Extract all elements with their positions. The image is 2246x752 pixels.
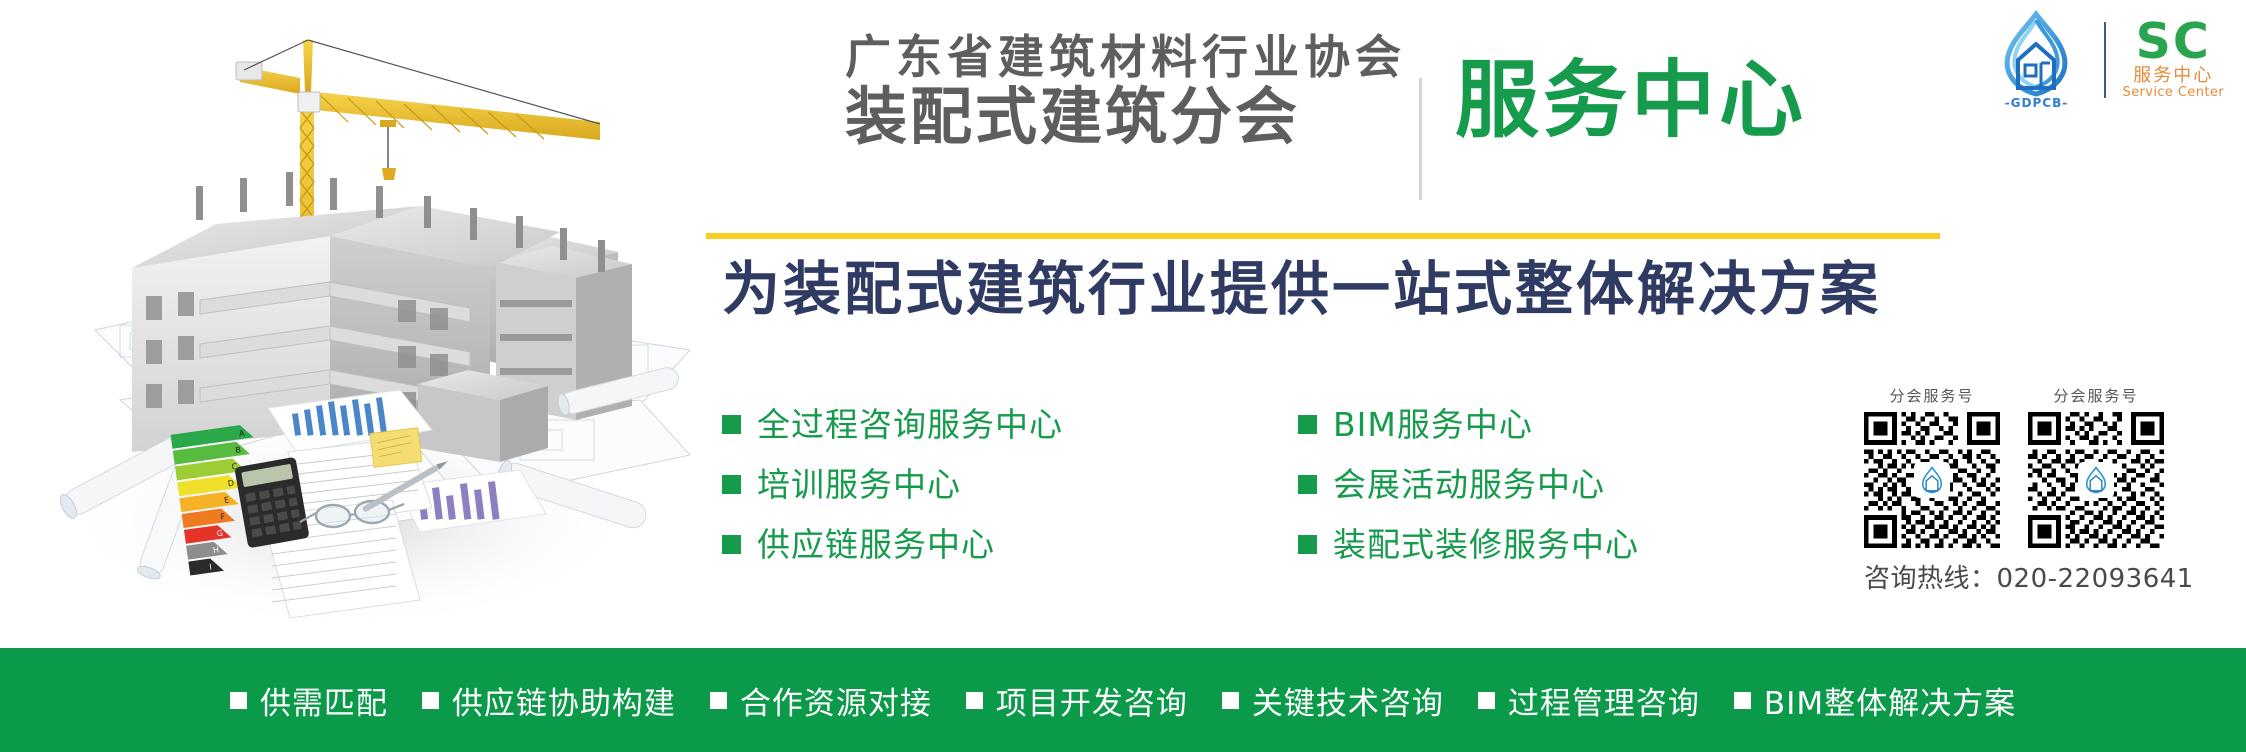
- square-bullet-icon: [1478, 692, 1495, 709]
- square-bullet-icon: [1298, 475, 1317, 494]
- qr-contact-block: 分会服务号: [1864, 385, 2216, 595]
- square-bullet-icon: [1734, 692, 1751, 709]
- sc-chinese-label: 服务中心: [2133, 67, 2213, 85]
- bar-item-label: 过程管理咨询: [1508, 678, 1700, 723]
- list-item[interactable]: 全过程咨询服务中心: [722, 408, 1063, 441]
- hero-illustration: ABC DEF GH I: [0, 0, 700, 648]
- bar-item[interactable]: 供应链协助构建: [422, 678, 676, 723]
- square-bullet-icon: [722, 475, 741, 494]
- service-center-title: 服务中心: [1455, 56, 1807, 144]
- service-label: 培训服务中心: [757, 468, 961, 501]
- promo-banner: ABC DEF GH I: [0, 0, 2246, 752]
- bar-item-label: 供应链协助构建: [452, 678, 676, 723]
- yellow-rule: [706, 233, 1940, 239]
- list-item[interactable]: 培训服务中心: [722, 468, 1063, 501]
- bar-item[interactable]: 供需匹配: [230, 678, 388, 723]
- qr-embedded-logo-icon: [1914, 462, 1950, 498]
- svg-text:H: H: [212, 545, 219, 555]
- square-bullet-icon: [1222, 692, 1239, 709]
- gdpcb-flame-house-icon: -GDPCB-: [1984, 8, 2088, 112]
- hotline-text: 咨询热线：020-22093641: [1864, 558, 2216, 595]
- svg-text:G: G: [216, 529, 223, 539]
- sc-logo: SC 服务中心 Service Center: [2122, 19, 2224, 101]
- service-label: 供应链服务中心: [757, 528, 995, 561]
- service-label: BIM服务中心: [1333, 408, 1533, 441]
- square-bullet-icon: [1298, 535, 1317, 554]
- headline-vertical-divider: [1419, 78, 1422, 200]
- square-bullet-icon: [230, 692, 247, 709]
- bar-item[interactable]: 项目开发咨询: [966, 678, 1188, 723]
- bar-item-label: 项目开发咨询: [996, 678, 1188, 723]
- list-item[interactable]: 供应链服务中心: [722, 528, 1063, 561]
- qr-cell: 分会服务号: [1864, 385, 2000, 548]
- service-list-right: BIM服务中心 会展活动服务中心 装配式装修服务中心: [1298, 408, 1639, 561]
- list-item[interactable]: 装配式装修服务中心: [1298, 528, 1639, 561]
- bottom-feature-bar: 供需匹配 供应链协助构建 合作资源对接 项目开发咨询 关键技术咨询 过程管理咨询…: [0, 648, 2246, 752]
- qr-caption: 分会服务号: [2053, 385, 2138, 406]
- logo-gdpcb-text: -GDPCB-: [1984, 96, 2088, 110]
- sc-english-label: Service Center: [2122, 85, 2224, 101]
- bar-item[interactable]: 关键技术咨询: [1222, 678, 1444, 723]
- square-bullet-icon: [722, 535, 741, 554]
- square-bullet-icon: [1298, 415, 1317, 434]
- qr-code-image[interactable]: [2028, 412, 2164, 548]
- service-label: 全过程咨询服务中心: [757, 408, 1063, 441]
- square-bullet-icon: [710, 692, 727, 709]
- bar-item[interactable]: 过程管理咨询: [1478, 678, 1700, 723]
- construction-hero-image: ABC DEF GH I: [0, 0, 700, 648]
- qr-cell: 分会服务号: [2028, 385, 2164, 548]
- square-bullet-icon: [722, 415, 741, 434]
- brand-logo-block: -GDPCB- SC 服务中心 Service Center: [1984, 8, 2224, 112]
- bar-item-label: 关键技术咨询: [1252, 678, 1444, 723]
- square-bullet-icon: [422, 692, 439, 709]
- bar-item-label: 供需匹配: [260, 678, 388, 723]
- service-label: 装配式装修服务中心: [1333, 528, 1639, 561]
- service-label: 会展活动服务中心: [1333, 468, 1605, 501]
- qr-embedded-logo-icon: [2078, 462, 2114, 498]
- bar-item[interactable]: 合作资源对接: [710, 678, 932, 723]
- bar-item-label: 合作资源对接: [740, 678, 932, 723]
- qr-row: 分会服务号: [1864, 385, 2216, 548]
- sc-abbrev: SC: [2136, 19, 2211, 66]
- list-item[interactable]: 会展活动服务中心: [1298, 468, 1639, 501]
- svg-text:D: D: [227, 479, 234, 489]
- service-list-left: 全过程咨询服务中心 培训服务中心 供应链服务中心: [722, 408, 1063, 561]
- bar-item-label: BIM整体解决方案: [1764, 678, 2016, 723]
- sticky-note: [370, 428, 422, 468]
- subtitle-slogan: 为装配式建筑行业提供一站式整体解决方案: [722, 258, 1881, 322]
- qr-code-image[interactable]: [1864, 412, 2000, 548]
- list-item[interactable]: BIM服务中心: [1298, 408, 1639, 441]
- square-bullet-icon: [966, 692, 983, 709]
- logo-divider: [2104, 22, 2106, 98]
- bar-item[interactable]: BIM整体解决方案: [1734, 678, 2016, 723]
- qr-caption: 分会服务号: [1889, 385, 1974, 406]
